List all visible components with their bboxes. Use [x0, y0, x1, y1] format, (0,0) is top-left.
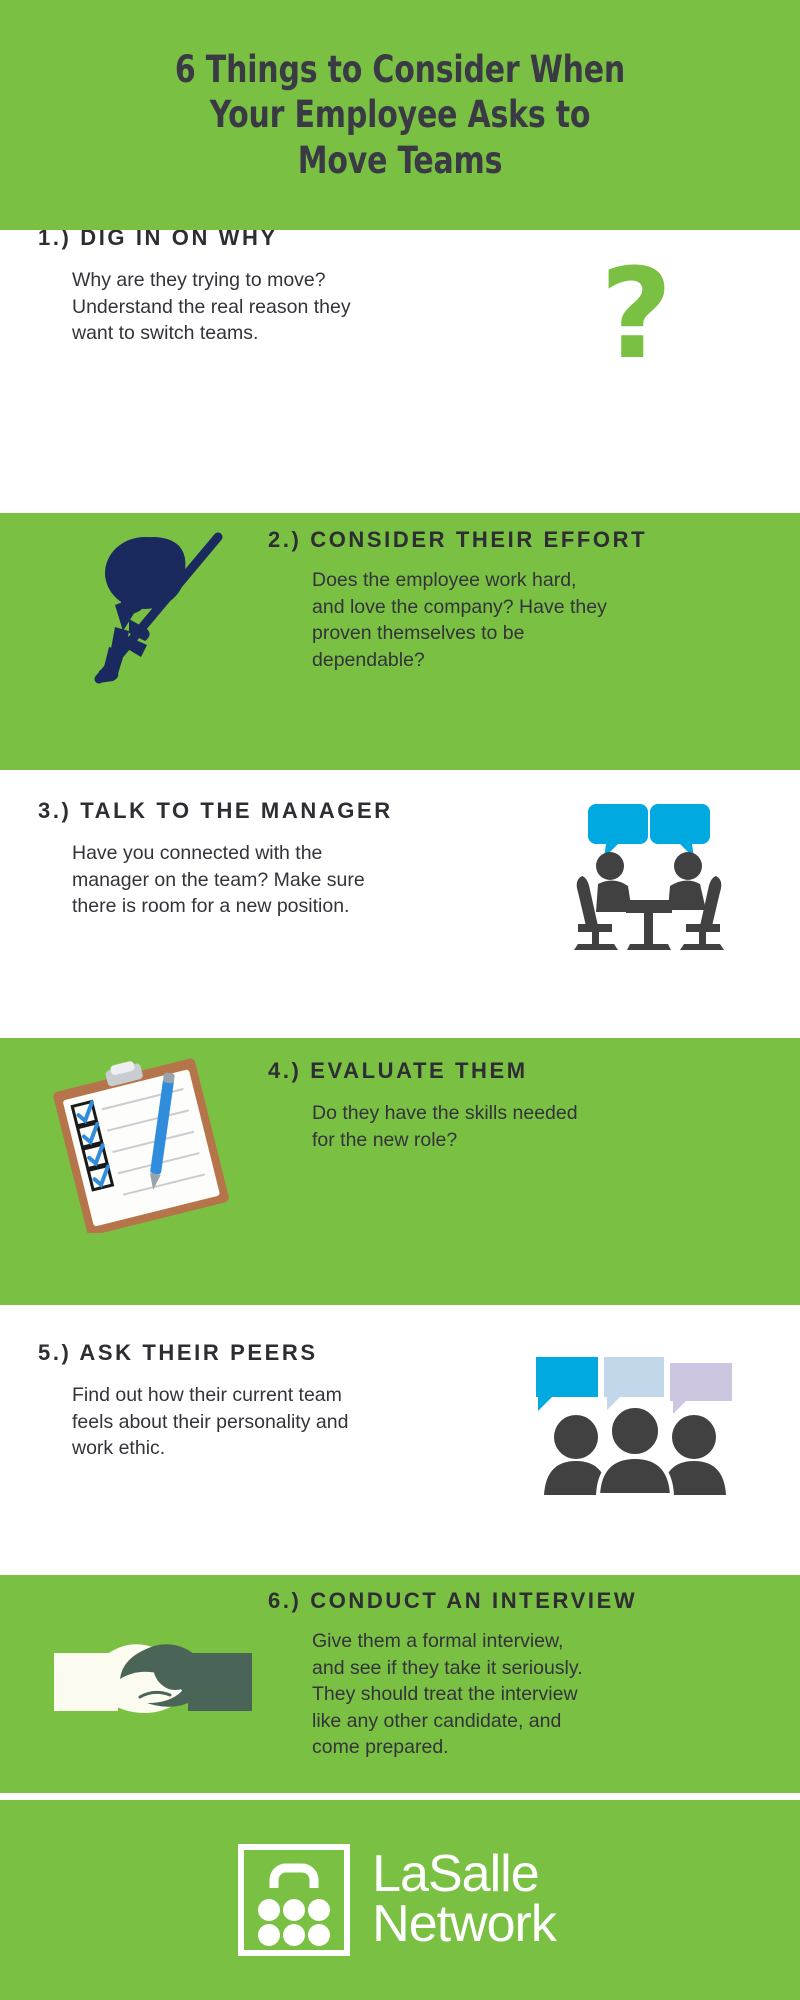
lasalle-network-logo[interactable]: LaSalle Network: [236, 1842, 556, 1958]
handshake-icon: [48, 1615, 258, 1750]
step-4-body: Do they have the skills needed for the n…: [268, 1100, 668, 1153]
section-6: 6.) CONDUCT AN INTERVIEW Give them a for…: [0, 1575, 800, 1793]
logo-wordmark: LaSalle Network: [372, 1850, 556, 1950]
step-1-body: Why are they trying to move? Understand …: [38, 267, 468, 347]
step-4-number: 4.): [268, 1058, 301, 1083]
step-2-body: Does the employee work hard, and love th…: [268, 567, 668, 673]
logo-line-1: LaSalle: [372, 1850, 556, 1900]
step-3-body: Have you connected with the manager on t…: [38, 840, 468, 920]
footer-banner: LaSalle Network: [0, 1800, 800, 2000]
step-3-title: TALK TO THE MANAGER: [80, 798, 393, 823]
section-2: 2.) CONSIDER THEIR EFFORT Does the emplo…: [0, 513, 800, 770]
step-2-title: CONSIDER THEIR EFFORT: [310, 527, 647, 552]
footer-divider: [0, 1793, 800, 1800]
logo-line-2: Network: [372, 1900, 556, 1950]
boulder-push-icon: [85, 531, 235, 701]
step-5-body: Find out how their current team feels ab…: [38, 1382, 468, 1462]
section-1: 1.) DIG IN ON WHY Why are they trying to…: [0, 230, 800, 513]
step-1-heading: 1.) DIG IN ON WHY: [38, 230, 468, 251]
section-5: 5.) ASK THEIR PEERS Find out how their c…: [0, 1305, 800, 1575]
step-5-title: ASK THEIR PEERS: [79, 1340, 317, 1365]
infographic-page: 6 Things to Consider When Your Employee …: [0, 0, 800, 2000]
header-banner: 6 Things to Consider When Your Employee …: [0, 0, 800, 230]
clipboard-checklist-icon: [40, 1058, 250, 1238]
meeting-conversation-icon: [548, 800, 748, 955]
step-4-title: EVALUATE THEM: [310, 1058, 528, 1083]
step-3-heading: 3.) TALK TO THE MANAGER: [38, 798, 468, 824]
step-1-number: 1.): [38, 230, 71, 250]
step-6-title: CONDUCT AN INTERVIEW: [310, 1588, 637, 1613]
step-1-title: DIG IN ON WHY: [80, 230, 278, 250]
lasalle-square-dots-icon: [236, 1842, 352, 1958]
step-2-number: 2.): [268, 527, 301, 552]
step-6-number: 6.): [268, 1588, 301, 1613]
step-5-heading: 5.) ASK THEIR PEERS: [38, 1340, 468, 1366]
people-group-icon: [530, 1355, 740, 1500]
step-5-number: 5.): [38, 1340, 71, 1365]
step-3-number: 3.): [38, 798, 71, 823]
step-6-heading: 6.) CONDUCT AN INTERVIEW: [268, 1588, 668, 1614]
step-6-body: Give them a formal interview, and see if…: [268, 1628, 668, 1761]
section-4: 4.) EVALUATE THEM Do they have the skill…: [0, 1038, 800, 1305]
question-mark-icon: ?: [600, 252, 673, 377]
step-4-heading: 4.) EVALUATE THEM: [268, 1058, 668, 1084]
step-2-heading: 2.) CONSIDER THEIR EFFORT: [268, 527, 668, 553]
section-3: 3.) TALK TO THE MANAGER Have you connect…: [0, 770, 800, 1038]
page-title: 6 Things to Consider When Your Employee …: [148, 47, 652, 182]
